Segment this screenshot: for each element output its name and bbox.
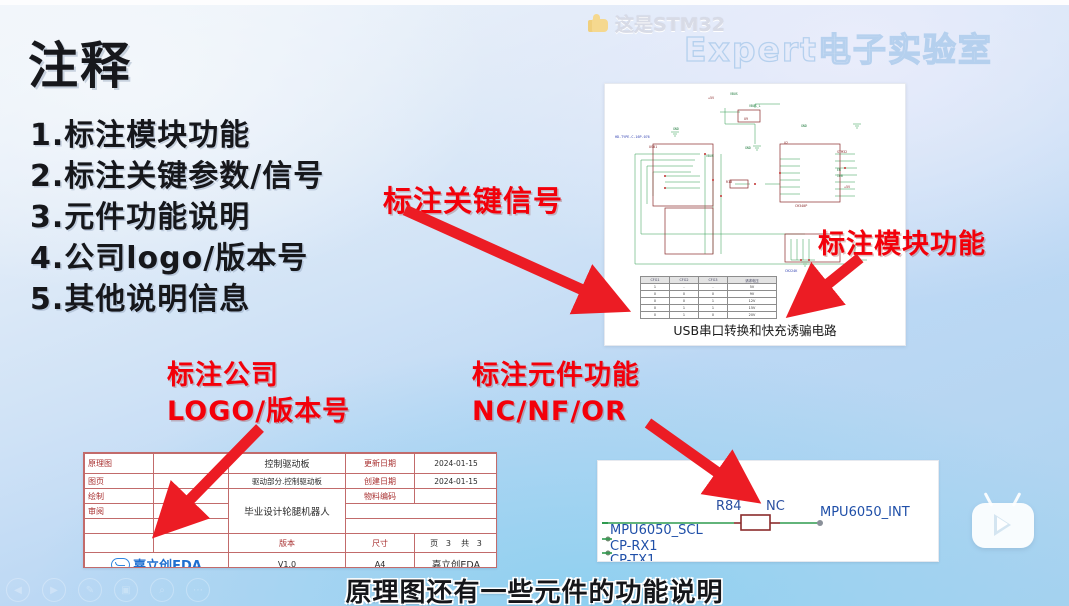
list-item: 3.元件功能说明 [30, 197, 324, 238]
mpu-net-cptx1: CP-TX1 [610, 553, 655, 562]
schematic-label: R10 [726, 180, 732, 184]
cfg-table-cell: 0 [699, 291, 728, 298]
cfg-table-row: 00112V [641, 298, 777, 305]
list-item: 5.其他说明信息 [30, 279, 324, 320]
tb-blank-4 [346, 519, 498, 534]
cfg-table-cell: 0 [641, 298, 670, 305]
tb-material-code [415, 489, 498, 504]
annotation-part-function: 标注元件功能 NC/NF/OR [472, 358, 640, 430]
slide-canvas: 注释 1.标注模块功能 2.标注关键参数/信号 3.元件功能说明 4.公司log… [0, 0, 1069, 606]
table-header-row: CFG1CFG2CFG3请求电压 [641, 277, 777, 284]
tb-pagecount: 页 3 共 3 [415, 534, 498, 553]
cfg-table-cell: 1 [641, 284, 670, 291]
cfg-table-header: 请求电压 [728, 277, 777, 284]
schematic-label: CH340P [795, 204, 807, 208]
tb-label-version: 版本 [229, 534, 346, 553]
tb-label-material-code: 物料编码 [346, 489, 415, 504]
schematic-label: +5V [708, 96, 714, 100]
tb-label-review: 审阅 [85, 504, 154, 519]
list-item: 4.公司logo/版本号 [30, 238, 324, 279]
tb-label-size: 尺寸 [346, 534, 415, 553]
tb-label-create-date: 创建日期 [346, 474, 415, 489]
schematic-label: IO0 [837, 174, 843, 178]
cfg-table-cell: 9V [728, 291, 777, 298]
schematic-label: VBUS [730, 92, 738, 96]
tb-update-date: 2024-01-15 [415, 454, 498, 474]
schematic-label: HD-TYPE-C-16P-076 [615, 135, 650, 139]
schematic-label: +5V [844, 185, 850, 189]
schematic-caption: USB串口转换和快充诱骗电路 [605, 320, 905, 339]
cfg-table-cell: 15V [728, 305, 777, 312]
cfg-table-cell: 1 [670, 312, 699, 319]
cfg-table-cell: 1 [699, 305, 728, 312]
title-block-table: 原理图 控制驱动板 更新日期 2024-01-15 图页 驱动部分.控制驱动板 … [84, 453, 497, 568]
cfg-table-cell: 0 [641, 305, 670, 312]
cfg-table-cell: 20V [728, 312, 777, 319]
cfg-table-row: 1--5V [641, 284, 777, 291]
top-white-band [0, 0, 1069, 5]
tb-label-update-date: 更新日期 [346, 454, 415, 474]
tb-total-num: 3 [477, 539, 482, 548]
cfg-table-row: 01020V [641, 312, 777, 319]
tb-label-schematic: 原理图 [85, 454, 154, 474]
play-triangle-inner [997, 517, 1008, 531]
tb-page-num: 3 [446, 539, 451, 548]
cfg-table-cell: 0 [641, 312, 670, 319]
tb-create-date: 2024-01-15 [415, 474, 498, 489]
schematic-label: VBUS_L [749, 104, 761, 108]
schematic-label: STM32 [837, 150, 847, 154]
thumbs-up-overlay: 这是STM32 [588, 10, 725, 37]
cloud-icon [111, 558, 130, 569]
list-item: 1.标注模块功能 [30, 115, 324, 156]
page-title: 注释 [28, 26, 132, 98]
cfg-table-row: 0009V [641, 291, 777, 298]
tb-total-label: 共 [461, 539, 469, 548]
cfg-table-cell: 0 [670, 298, 699, 305]
tb-size-value: A4 [346, 553, 415, 569]
cfg-table-cell: 1 [699, 298, 728, 305]
schematic-label: U9 [744, 117, 748, 121]
lceda-logo-icon: 嘉立创EDA [111, 555, 202, 569]
cfg-table-cell: 12V [728, 298, 777, 305]
tb-lceda-logo: 嘉立创EDA [85, 553, 229, 569]
mpu-net-scl: MPU6050_SCL [610, 523, 703, 538]
arrow-part-function [640, 415, 770, 510]
table-body: 1--5V0009V00112V01115V01020V [641, 284, 777, 319]
thumbs-up-text: 这是STM32 [615, 10, 725, 37]
arrow-key-signal [380, 205, 630, 320]
schematic-label: VBUS [706, 154, 714, 158]
cfg-table-header: CFG1 [641, 277, 670, 284]
tb-company: 嘉立创EDA [415, 553, 498, 569]
cfg-table-cell: 0 [670, 291, 699, 298]
cfg-table-cell: 1 [670, 305, 699, 312]
tb-blank-6 [154, 534, 229, 553]
lceda-logo-text: 嘉立创EDA [133, 555, 202, 569]
thumbs-up-icon [588, 14, 609, 33]
cfg-table-cell: 5V [728, 284, 777, 291]
subtitle-caption: 原理图还有一些元件的功能说明 [0, 572, 1069, 606]
schematic-label: GND [801, 124, 807, 128]
bilibili-tv-logo-icon [972, 492, 1034, 548]
cfg-table-header: CFG2 [670, 277, 699, 284]
list-item: 2.标注关键参数/信号 [30, 156, 324, 197]
annotation-checklist: 1.标注模块功能 2.标注关键参数/信号 3.元件功能说明 4.公司logo/版… [30, 115, 324, 320]
channel-watermark: Expert电子实验室 [684, 23, 993, 71]
cfg-table-header: CFG3 [699, 277, 728, 284]
schematic-label: GND [673, 127, 679, 131]
mpu-net-int: MPU6050_INT [820, 505, 910, 520]
cfg-table-row: 01115V [641, 305, 777, 312]
tb-blank-2 [85, 519, 154, 534]
tb-label-drawn: 绘制 [85, 489, 154, 504]
config-voltage-table: CFG1CFG2CFG3请求电压 1--5V0009V00112V01115V0… [640, 276, 777, 319]
tb-blank-1 [346, 504, 498, 519]
schematic-label: USB1 [649, 145, 657, 149]
arrow-company-logo [150, 420, 280, 535]
schematic-label: EN [837, 168, 841, 172]
cfg-table-cell: - [699, 284, 728, 291]
tb-page-label: 页 [430, 539, 438, 548]
tb-version-value: V1.0 [229, 553, 346, 569]
schematic-title-block-image: 原理图 控制驱动板 更新日期 2024-01-15 图页 驱动部分.控制驱动板 … [83, 452, 497, 568]
schematic-label: GND [745, 146, 751, 150]
mpu-net-cprx1: CP-RX1 [610, 539, 658, 554]
schematic-label: U2 [784, 141, 788, 145]
cfg-table-cell: - [670, 284, 699, 291]
cfg-table-cell: 0 [699, 312, 728, 319]
tb-label-sheetpage: 图页 [85, 474, 154, 489]
arrow-module-function [790, 250, 880, 315]
cfg-table-cell: 0 [641, 291, 670, 298]
tb-blank-5 [85, 534, 154, 553]
